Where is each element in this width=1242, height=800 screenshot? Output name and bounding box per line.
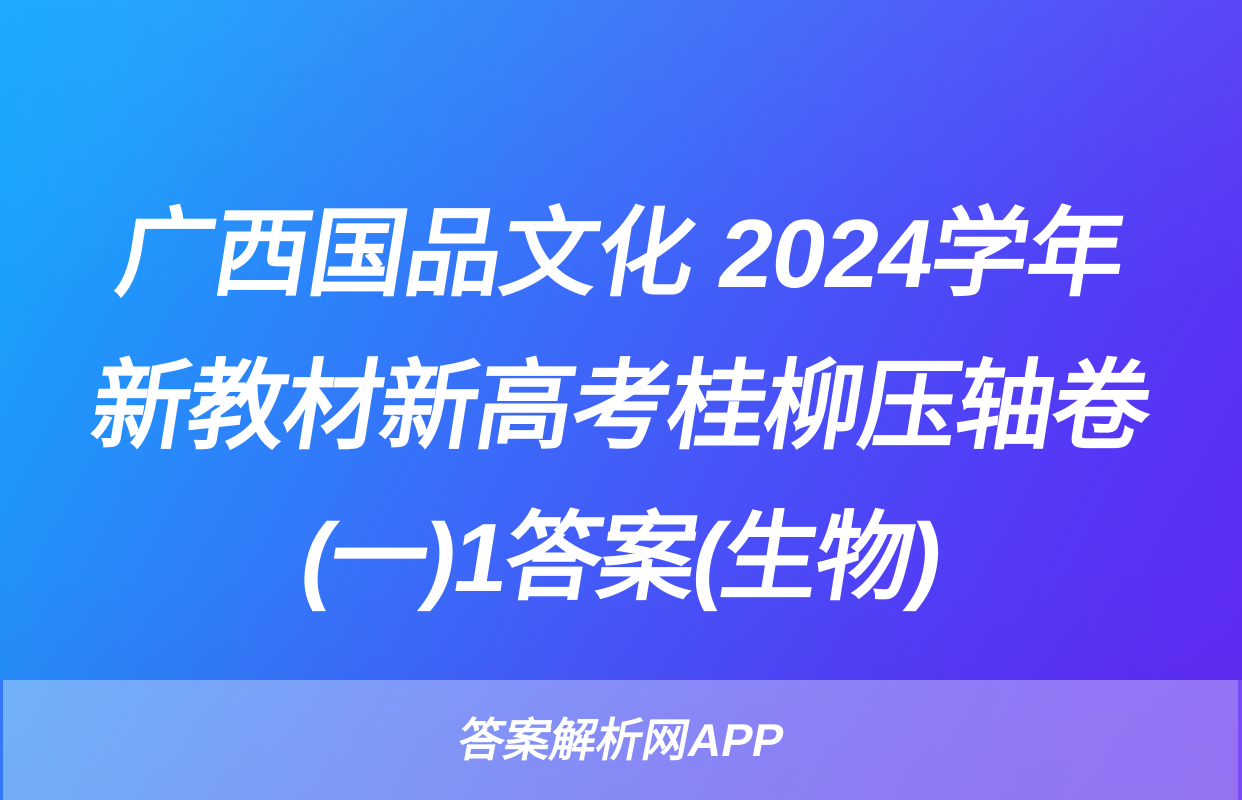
poster-title: 广西国品文化 2024学年 新教材新高考桂柳压轴卷 (一)1答案(生物)	[0, 178, 1242, 634]
title-line-3: (一)1答案(生物)	[14, 482, 1228, 634]
poster-canvas: 广西国品文化 2024学年 新教材新高考桂柳压轴卷 (一)1答案(生物) 答案解…	[0, 0, 1242, 800]
footer-band-right-edge	[1238, 680, 1242, 800]
footer-brand-label: 答案解析网APP	[454, 717, 788, 763]
footer-band-left-edge	[0, 680, 3, 800]
title-line-2: 新教材新高考桂柳压轴卷	[14, 330, 1228, 482]
footer-banner: 答案解析网APP	[0, 680, 1242, 800]
title-line-1: 广西国品文化 2024学年	[14, 178, 1228, 330]
